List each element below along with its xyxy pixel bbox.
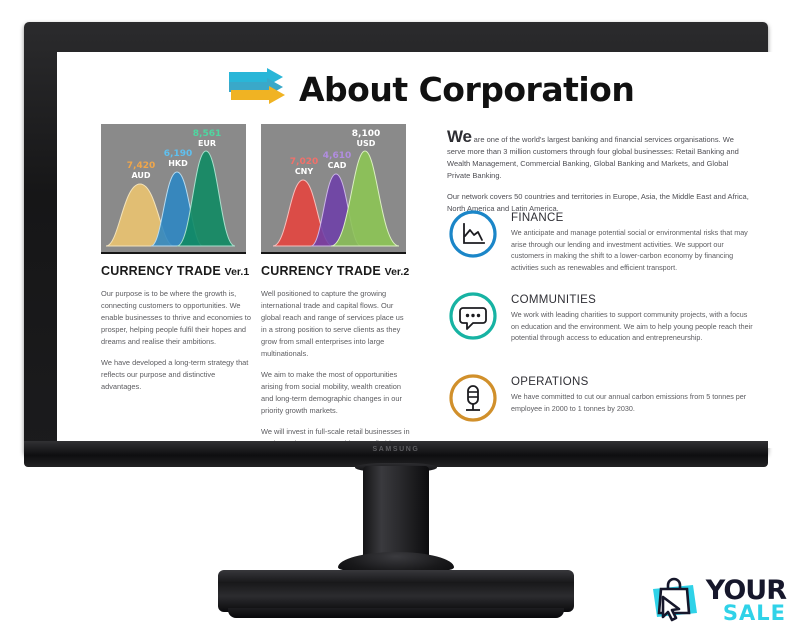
card-title-1-version: Ver.1 (225, 266, 250, 278)
line-chart-icon (447, 208, 499, 260)
feature-operations-description: We have committed to cut our annual carb… (511, 391, 753, 414)
svg-text:EUR: EUR (198, 139, 216, 148)
card-1-paragraph: We have developed a long-term strategy t… (101, 357, 251, 393)
card-2-paragraph: Well positioned to capture the growing i… (261, 288, 411, 360)
presentation-slide: About Corporation 7,420 AUD 6,190 H (57, 52, 783, 448)
microphone-icon (447, 372, 499, 424)
page-title: About Corporation (299, 73, 634, 106)
svg-text:USD: USD (357, 139, 376, 148)
card-title-2: CURRENCY TRADE Ver.2 (261, 264, 409, 278)
card-2-paragraph: We aim to make the most of opportunities… (261, 369, 411, 417)
feature-communities-description: We work with leading charities to suppor… (511, 309, 753, 344)
watermark-logo: YOUR SALE (647, 573, 786, 628)
monitor-screen: About Corporation 7,420 AUD 6,190 H (57, 52, 783, 448)
samsung-brand-logo: SAMSUNG (24, 446, 768, 453)
svg-text:AUD: AUD (131, 171, 150, 180)
feature-finance-title: FINANCE (511, 212, 753, 224)
watermark-line-2: SALE (706, 604, 786, 622)
card-title-1: CURRENCY TRADE Ver.1 (101, 264, 249, 278)
feature-communities: COMMUNITIES We work with leading chariti… (447, 290, 753, 344)
feature-finance: FINANCE We anticipate and manage potenti… (447, 208, 753, 273)
double-arrow-right-icon (227, 68, 285, 111)
intro-lead-paragraph: We are one of the world's largest bankin… (447, 128, 753, 183)
monitor-device: About Corporation 7,420 AUD 6,190 H (0, 0, 792, 640)
monitor-bezel: About Corporation 7,420 AUD 6,190 H (24, 22, 768, 454)
card-title-1-main: CURRENCY TRADE (101, 264, 221, 278)
svg-text:7,420: 7,420 (127, 161, 155, 171)
currency-chart-2: 7,020 CNY 4,610 CAD 8,100 USD (261, 124, 406, 254)
svg-text:8,561: 8,561 (193, 129, 221, 139)
intro-lead-word: We (447, 127, 472, 146)
currency-chart-1: 7,420 AUD 6,190 HKD 8,561 EUR (101, 124, 246, 254)
feature-operations-title: OPERATIONS (511, 376, 753, 388)
card-title-2-main: CURRENCY TRADE (261, 264, 381, 278)
svg-text:8,100: 8,100 (352, 129, 380, 139)
svg-text:CAD: CAD (328, 161, 347, 170)
shopping-bag-cursor-icon (647, 573, 703, 628)
feature-finance-text: FINANCE We anticipate and manage potenti… (511, 208, 753, 273)
feature-finance-description: We anticipate and manage potential socia… (511, 227, 753, 273)
svg-text:HKD: HKD (168, 159, 188, 168)
card-body-2: Well positioned to capture the growing i… (261, 288, 411, 448)
slide-header: About Corporation (227, 68, 634, 111)
monitor-stand-base-front (228, 608, 564, 618)
svg-text:7,020: 7,020 (290, 157, 318, 167)
feature-communities-text: COMMUNITIES We work with leading chariti… (511, 290, 753, 344)
feature-operations: OPERATIONS We have committed to cut our … (447, 372, 753, 424)
svg-text:4,610: 4,610 (323, 151, 351, 161)
feature-operations-text: OPERATIONS We have committed to cut our … (511, 372, 753, 414)
watermark-text: YOUR SALE (706, 579, 786, 622)
svg-text:6,190: 6,190 (164, 149, 192, 159)
card-body-1: Our purpose is to be where the growth is… (101, 288, 251, 402)
speech-bubble-icon (447, 290, 499, 342)
feature-communities-title: COMMUNITIES (511, 294, 753, 306)
card-1-paragraph: Our purpose is to be where the growth is… (101, 288, 251, 348)
card-title-2-version: Ver.2 (385, 266, 410, 278)
monitor-stand-base (218, 570, 574, 612)
svg-text:CNY: CNY (295, 167, 314, 176)
intro-column: We are one of the world's largest bankin… (447, 128, 753, 215)
watermark-line-1: YOUR (706, 579, 786, 603)
intro-lead-rest: are one of the world's largest banking a… (447, 135, 739, 180)
